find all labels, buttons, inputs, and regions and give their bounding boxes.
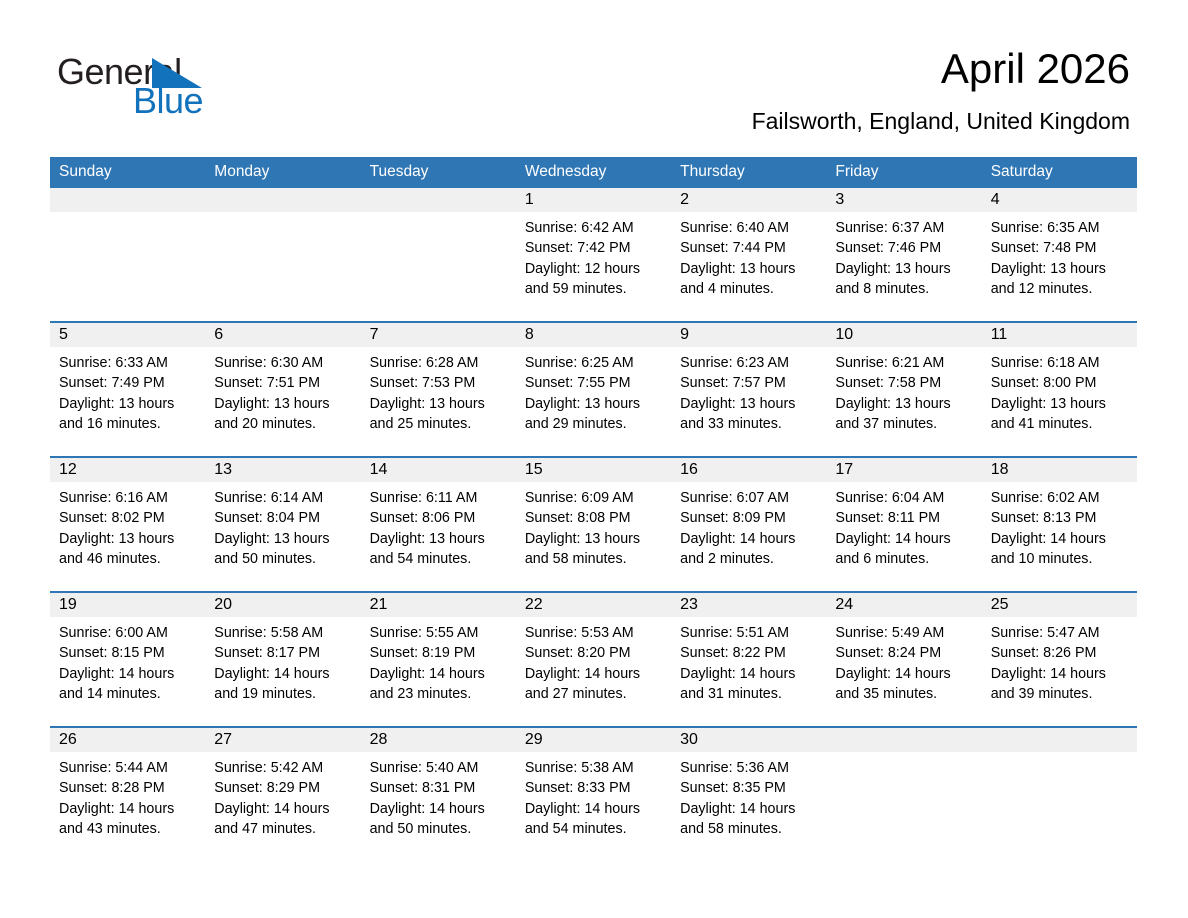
sunset-text: Sunset: 8:20 PM bbox=[525, 643, 662, 663]
sunset-text: Sunset: 8:31 PM bbox=[370, 778, 507, 798]
day-details: Sunrise: 6:28 AMSunset: 7:53 PMDaylight:… bbox=[361, 347, 516, 434]
calendar-cell-inner: 14Sunrise: 6:11 AMSunset: 8:06 PMDayligh… bbox=[361, 458, 516, 591]
calendar-cell-inner: 26Sunrise: 5:44 AMSunset: 8:28 PMDayligh… bbox=[50, 728, 205, 861]
daylight-text: Daylight: 12 hours bbox=[525, 259, 662, 279]
page-header: General Blue April 2026 Failsworth, Engl… bbox=[0, 0, 1188, 156]
day-number: 23 bbox=[671, 593, 826, 617]
day-details: Sunrise: 6:16 AMSunset: 8:02 PMDaylight:… bbox=[50, 482, 205, 569]
sunset-text: Sunset: 8:00 PM bbox=[991, 373, 1128, 393]
calendar-cell-day-14[interactable]: 14Sunrise: 6:11 AMSunset: 8:06 PMDayligh… bbox=[361, 457, 516, 592]
calendar-cell-day-26[interactable]: 26Sunrise: 5:44 AMSunset: 8:28 PMDayligh… bbox=[50, 727, 205, 861]
daylight-text: and 29 minutes. bbox=[525, 414, 662, 434]
day-details: Sunrise: 6:04 AMSunset: 8:11 PMDaylight:… bbox=[826, 482, 981, 569]
calendar-cell-inner: 15Sunrise: 6:09 AMSunset: 8:08 PMDayligh… bbox=[516, 458, 671, 591]
calendar-cell-empty bbox=[205, 188, 360, 322]
sunrise-text: Sunrise: 5:58 AM bbox=[214, 623, 351, 643]
calendar-cell-inner: 6Sunrise: 6:30 AMSunset: 7:51 PMDaylight… bbox=[205, 323, 360, 456]
sunrise-text: Sunrise: 6:23 AM bbox=[680, 353, 817, 373]
sunset-text: Sunset: 8:08 PM bbox=[525, 508, 662, 528]
calendar-cell-inner bbox=[50, 188, 205, 321]
day-number: 29 bbox=[516, 728, 671, 752]
day-number: 25 bbox=[982, 593, 1137, 617]
day-details: Sunrise: 6:40 AMSunset: 7:44 PMDaylight:… bbox=[671, 212, 826, 299]
daylight-text: and 43 minutes. bbox=[59, 819, 196, 839]
day-number: 21 bbox=[361, 593, 516, 617]
sunrise-text: Sunrise: 6:30 AM bbox=[214, 353, 351, 373]
daylight-text: Daylight: 14 hours bbox=[680, 529, 817, 549]
calendar-cell-empty bbox=[826, 727, 981, 861]
sunrise-text: Sunrise: 6:09 AM bbox=[525, 488, 662, 508]
daylight-text: and 35 minutes. bbox=[835, 684, 972, 704]
calendar-cell-inner: 28Sunrise: 5:40 AMSunset: 8:31 PMDayligh… bbox=[361, 728, 516, 861]
calendar-cell-inner: 5Sunrise: 6:33 AMSunset: 7:49 PMDaylight… bbox=[50, 323, 205, 456]
day-details: Sunrise: 6:07 AMSunset: 8:09 PMDaylight:… bbox=[671, 482, 826, 569]
sunrise-text: Sunrise: 6:35 AM bbox=[991, 218, 1128, 238]
day-details: Sunrise: 6:02 AMSunset: 8:13 PMDaylight:… bbox=[982, 482, 1137, 569]
daylight-text: and 19 minutes. bbox=[214, 684, 351, 704]
day-number-empty bbox=[205, 188, 360, 212]
calendar-cell-inner: 1Sunrise: 6:42 AMSunset: 7:42 PMDaylight… bbox=[516, 188, 671, 321]
page-title: April 2026 bbox=[752, 44, 1130, 94]
sunrise-text: Sunrise: 6:16 AM bbox=[59, 488, 196, 508]
day-details: Sunrise: 5:42 AMSunset: 8:29 PMDaylight:… bbox=[205, 752, 360, 839]
sunset-text: Sunset: 8:15 PM bbox=[59, 643, 196, 663]
calendar-week-row: 5Sunrise: 6:33 AMSunset: 7:49 PMDaylight… bbox=[50, 322, 1137, 457]
weekday-header-sunday: Sunday bbox=[50, 157, 205, 188]
calendar-cell-day-6[interactable]: 6Sunrise: 6:30 AMSunset: 7:51 PMDaylight… bbox=[205, 322, 360, 457]
weekday-header-wednesday: Wednesday bbox=[516, 157, 671, 188]
sunset-text: Sunset: 7:42 PM bbox=[525, 238, 662, 258]
calendar-cell-day-25[interactable]: 25Sunrise: 5:47 AMSunset: 8:26 PMDayligh… bbox=[982, 592, 1137, 727]
calendar-cell-day-23[interactable]: 23Sunrise: 5:51 AMSunset: 8:22 PMDayligh… bbox=[671, 592, 826, 727]
calendar-cell-empty bbox=[50, 188, 205, 322]
calendar-week-row: 12Sunrise: 6:16 AMSunset: 8:02 PMDayligh… bbox=[50, 457, 1137, 592]
calendar-table: Sunday Monday Tuesday Wednesday Thursday… bbox=[50, 157, 1137, 861]
daylight-text: and 25 minutes. bbox=[370, 414, 507, 434]
sunrise-text: Sunrise: 6:11 AM bbox=[370, 488, 507, 508]
day-number: 24 bbox=[826, 593, 981, 617]
calendar-cell-day-8[interactable]: 8Sunrise: 6:25 AMSunset: 7:55 PMDaylight… bbox=[516, 322, 671, 457]
sunrise-text: Sunrise: 5:47 AM bbox=[991, 623, 1128, 643]
day-details: Sunrise: 6:30 AMSunset: 7:51 PMDaylight:… bbox=[205, 347, 360, 434]
daylight-text: Daylight: 13 hours bbox=[680, 394, 817, 414]
calendar-cell-day-11[interactable]: 11Sunrise: 6:18 AMSunset: 8:00 PMDayligh… bbox=[982, 322, 1137, 457]
day-details: Sunrise: 6:00 AMSunset: 8:15 PMDaylight:… bbox=[50, 617, 205, 704]
calendar-cell-inner: 11Sunrise: 6:18 AMSunset: 8:00 PMDayligh… bbox=[982, 323, 1137, 456]
sunset-text: Sunset: 8:06 PM bbox=[370, 508, 507, 528]
day-details: Sunrise: 6:25 AMSunset: 7:55 PMDaylight:… bbox=[516, 347, 671, 434]
day-details: Sunrise: 6:33 AMSunset: 7:49 PMDaylight:… bbox=[50, 347, 205, 434]
daylight-text: and 50 minutes. bbox=[214, 549, 351, 569]
day-details: Sunrise: 5:44 AMSunset: 8:28 PMDaylight:… bbox=[50, 752, 205, 839]
day-number: 14 bbox=[361, 458, 516, 482]
daylight-text: Daylight: 13 hours bbox=[835, 259, 972, 279]
day-number-empty bbox=[826, 728, 981, 752]
sunrise-text: Sunrise: 5:40 AM bbox=[370, 758, 507, 778]
day-number-empty bbox=[361, 188, 516, 212]
calendar-week-row: 19Sunrise: 6:00 AMSunset: 8:15 PMDayligh… bbox=[50, 592, 1137, 727]
daylight-text: and 39 minutes. bbox=[991, 684, 1128, 704]
sunrise-text: Sunrise: 6:18 AM bbox=[991, 353, 1128, 373]
daylight-text: Daylight: 13 hours bbox=[59, 394, 196, 414]
day-number: 17 bbox=[826, 458, 981, 482]
calendar-cell-inner: 18Sunrise: 6:02 AMSunset: 8:13 PMDayligh… bbox=[982, 458, 1137, 591]
daylight-text: and 8 minutes. bbox=[835, 279, 972, 299]
daylight-text: Daylight: 13 hours bbox=[525, 394, 662, 414]
daylight-text: Daylight: 13 hours bbox=[680, 259, 817, 279]
day-number: 6 bbox=[205, 323, 360, 347]
day-number: 5 bbox=[50, 323, 205, 347]
calendar-cell-inner: 21Sunrise: 5:55 AMSunset: 8:19 PMDayligh… bbox=[361, 593, 516, 726]
sunset-text: Sunset: 8:04 PM bbox=[214, 508, 351, 528]
calendar-cell-inner: 30Sunrise: 5:36 AMSunset: 8:35 PMDayligh… bbox=[671, 728, 826, 861]
calendar-cell-day-2[interactable]: 2Sunrise: 6:40 AMSunset: 7:44 PMDaylight… bbox=[671, 188, 826, 322]
sunrise-text: Sunrise: 6:21 AM bbox=[835, 353, 972, 373]
sunset-text: Sunset: 7:46 PM bbox=[835, 238, 972, 258]
calendar-cell-day-9[interactable]: 9Sunrise: 6:23 AMSunset: 7:57 PMDaylight… bbox=[671, 322, 826, 457]
calendar-cell-day-1[interactable]: 1Sunrise: 6:42 AMSunset: 7:42 PMDaylight… bbox=[516, 188, 671, 322]
daylight-text: Daylight: 14 hours bbox=[525, 799, 662, 819]
daylight-text: Daylight: 13 hours bbox=[525, 529, 662, 549]
sunset-text: Sunset: 8:02 PM bbox=[59, 508, 196, 528]
daylight-text: Daylight: 13 hours bbox=[370, 529, 507, 549]
calendar-cell-inner: 7Sunrise: 6:28 AMSunset: 7:53 PMDaylight… bbox=[361, 323, 516, 456]
sunrise-text: Sunrise: 5:49 AM bbox=[835, 623, 972, 643]
day-details: Sunrise: 5:53 AMSunset: 8:20 PMDaylight:… bbox=[516, 617, 671, 704]
daylight-text: Daylight: 14 hours bbox=[835, 664, 972, 684]
daylight-text: and 23 minutes. bbox=[370, 684, 507, 704]
calendar-cell-empty bbox=[361, 188, 516, 322]
daylight-text: Daylight: 14 hours bbox=[525, 664, 662, 684]
calendar-cell-day-30[interactable]: 30Sunrise: 5:36 AMSunset: 8:35 PMDayligh… bbox=[671, 727, 826, 861]
day-number: 18 bbox=[982, 458, 1137, 482]
sunrise-text: Sunrise: 6:07 AM bbox=[680, 488, 817, 508]
daylight-text: and 37 minutes. bbox=[835, 414, 972, 434]
sunset-text: Sunset: 8:28 PM bbox=[59, 778, 196, 798]
day-details: Sunrise: 5:49 AMSunset: 8:24 PMDaylight:… bbox=[826, 617, 981, 704]
daylight-text: and 20 minutes. bbox=[214, 414, 351, 434]
day-details: Sunrise: 5:38 AMSunset: 8:33 PMDaylight:… bbox=[516, 752, 671, 839]
day-details bbox=[205, 212, 360, 218]
calendar-cell-inner: 29Sunrise: 5:38 AMSunset: 8:33 PMDayligh… bbox=[516, 728, 671, 861]
day-number: 3 bbox=[826, 188, 981, 212]
calendar-body: 1Sunrise: 6:42 AMSunset: 7:42 PMDaylight… bbox=[50, 188, 1137, 861]
daylight-text: Daylight: 14 hours bbox=[214, 799, 351, 819]
calendar-cell-day-7[interactable]: 7Sunrise: 6:28 AMSunset: 7:53 PMDaylight… bbox=[361, 322, 516, 457]
calendar-cell-inner: 24Sunrise: 5:49 AMSunset: 8:24 PMDayligh… bbox=[826, 593, 981, 726]
sunset-text: Sunset: 7:44 PM bbox=[680, 238, 817, 258]
calendar-cell-day-16[interactable]: 16Sunrise: 6:07 AMSunset: 8:09 PMDayligh… bbox=[671, 457, 826, 592]
day-details: Sunrise: 6:21 AMSunset: 7:58 PMDaylight:… bbox=[826, 347, 981, 434]
sunrise-text: Sunrise: 5:51 AM bbox=[680, 623, 817, 643]
daylight-text: Daylight: 13 hours bbox=[59, 529, 196, 549]
calendar-cell-inner: 2Sunrise: 6:40 AMSunset: 7:44 PMDaylight… bbox=[671, 188, 826, 321]
daylight-text: Daylight: 14 hours bbox=[991, 529, 1128, 549]
sunset-text: Sunset: 8:29 PM bbox=[214, 778, 351, 798]
day-details: Sunrise: 5:58 AMSunset: 8:17 PMDaylight:… bbox=[205, 617, 360, 704]
calendar-cell-inner bbox=[982, 728, 1137, 861]
daylight-text: Daylight: 13 hours bbox=[991, 394, 1128, 414]
calendar-cell-inner: 9Sunrise: 6:23 AMSunset: 7:57 PMDaylight… bbox=[671, 323, 826, 456]
sunset-text: Sunset: 7:53 PM bbox=[370, 373, 507, 393]
day-details: Sunrise: 6:09 AMSunset: 8:08 PMDaylight:… bbox=[516, 482, 671, 569]
day-number: 19 bbox=[50, 593, 205, 617]
weekday-header-thursday: Thursday bbox=[671, 157, 826, 188]
day-number: 9 bbox=[671, 323, 826, 347]
day-details: Sunrise: 6:11 AMSunset: 8:06 PMDaylight:… bbox=[361, 482, 516, 569]
daylight-text: and 10 minutes. bbox=[991, 549, 1128, 569]
day-number: 11 bbox=[982, 323, 1137, 347]
daylight-text: Daylight: 13 hours bbox=[370, 394, 507, 414]
calendar-week-row: 1Sunrise: 6:42 AMSunset: 7:42 PMDaylight… bbox=[50, 188, 1137, 322]
daylight-text: Daylight: 14 hours bbox=[370, 799, 507, 819]
calendar-cell-day-27[interactable]: 27Sunrise: 5:42 AMSunset: 8:29 PMDayligh… bbox=[205, 727, 360, 861]
daylight-text: and 54 minutes. bbox=[525, 819, 662, 839]
sunrise-text: Sunrise: 6:40 AM bbox=[680, 218, 817, 238]
day-details: Sunrise: 5:55 AMSunset: 8:19 PMDaylight:… bbox=[361, 617, 516, 704]
sunrise-text: Sunrise: 5:53 AM bbox=[525, 623, 662, 643]
weekday-header-tuesday: Tuesday bbox=[361, 157, 516, 188]
calendar-cell-day-17[interactable]: 17Sunrise: 6:04 AMSunset: 8:11 PMDayligh… bbox=[826, 457, 981, 592]
page-subtitle: Failsworth, England, United Kingdom bbox=[752, 106, 1130, 136]
day-details bbox=[50, 212, 205, 218]
day-number: 16 bbox=[671, 458, 826, 482]
daylight-text: Daylight: 14 hours bbox=[680, 664, 817, 684]
calendar-cell-inner bbox=[826, 728, 981, 861]
calendar-cell-inner: 23Sunrise: 5:51 AMSunset: 8:22 PMDayligh… bbox=[671, 593, 826, 726]
calendar-cell-day-24[interactable]: 24Sunrise: 5:49 AMSunset: 8:24 PMDayligh… bbox=[826, 592, 981, 727]
day-number: 7 bbox=[361, 323, 516, 347]
calendar-cell-day-3[interactable]: 3Sunrise: 6:37 AMSunset: 7:46 PMDaylight… bbox=[826, 188, 981, 322]
daylight-text: Daylight: 14 hours bbox=[59, 664, 196, 684]
calendar-cell-inner: 3Sunrise: 6:37 AMSunset: 7:46 PMDaylight… bbox=[826, 188, 981, 321]
calendar-header-row: Sunday Monday Tuesday Wednesday Thursday… bbox=[50, 157, 1137, 188]
daylight-text: and 50 minutes. bbox=[370, 819, 507, 839]
daylight-text: Daylight: 14 hours bbox=[370, 664, 507, 684]
daylight-text: and 59 minutes. bbox=[525, 279, 662, 299]
sunset-text: Sunset: 8:19 PM bbox=[370, 643, 507, 663]
calendar-cell-day-19[interactable]: 19Sunrise: 6:00 AMSunset: 8:15 PMDayligh… bbox=[50, 592, 205, 727]
sunrise-text: Sunrise: 6:00 AM bbox=[59, 623, 196, 643]
sunset-text: Sunset: 8:26 PM bbox=[991, 643, 1128, 663]
calendar-cell-inner: 12Sunrise: 6:16 AMSunset: 8:02 PMDayligh… bbox=[50, 458, 205, 591]
day-details: Sunrise: 5:51 AMSunset: 8:22 PMDaylight:… bbox=[671, 617, 826, 704]
sunrise-text: Sunrise: 5:44 AM bbox=[59, 758, 196, 778]
calendar-cell-inner: 25Sunrise: 5:47 AMSunset: 8:26 PMDayligh… bbox=[982, 593, 1137, 726]
sunset-text: Sunset: 8:09 PM bbox=[680, 508, 817, 528]
calendar-cell-day-15[interactable]: 15Sunrise: 6:09 AMSunset: 8:08 PMDayligh… bbox=[516, 457, 671, 592]
weekday-header-friday: Friday bbox=[826, 157, 981, 188]
sunset-text: Sunset: 8:33 PM bbox=[525, 778, 662, 798]
daylight-text: and 33 minutes. bbox=[680, 414, 817, 434]
calendar-week-row: 26Sunrise: 5:44 AMSunset: 8:28 PMDayligh… bbox=[50, 727, 1137, 861]
sunrise-text: Sunrise: 6:25 AM bbox=[525, 353, 662, 373]
calendar-cell-day-12[interactable]: 12Sunrise: 6:16 AMSunset: 8:02 PMDayligh… bbox=[50, 457, 205, 592]
sunrise-text: Sunrise: 6:33 AM bbox=[59, 353, 196, 373]
day-details bbox=[982, 752, 1137, 758]
day-number: 12 bbox=[50, 458, 205, 482]
calendar-cell-inner: 13Sunrise: 6:14 AMSunset: 8:04 PMDayligh… bbox=[205, 458, 360, 591]
calendar-cell-inner bbox=[361, 188, 516, 321]
day-number: 15 bbox=[516, 458, 671, 482]
day-details: Sunrise: 5:36 AMSunset: 8:35 PMDaylight:… bbox=[671, 752, 826, 839]
title-block: April 2026 Failsworth, England, United K… bbox=[752, 44, 1130, 136]
daylight-text: and 47 minutes. bbox=[214, 819, 351, 839]
calendar-cell-inner: 22Sunrise: 5:53 AMSunset: 8:20 PMDayligh… bbox=[516, 593, 671, 726]
calendar-cell-inner: 4Sunrise: 6:35 AMSunset: 7:48 PMDaylight… bbox=[982, 188, 1137, 321]
day-details: Sunrise: 6:35 AMSunset: 7:48 PMDaylight:… bbox=[982, 212, 1137, 299]
sunset-text: Sunset: 7:49 PM bbox=[59, 373, 196, 393]
weekday-header-saturday: Saturday bbox=[982, 157, 1137, 188]
calendar-cell-inner: 20Sunrise: 5:58 AMSunset: 8:17 PMDayligh… bbox=[205, 593, 360, 726]
calendar-cell-day-21[interactable]: 21Sunrise: 5:55 AMSunset: 8:19 PMDayligh… bbox=[361, 592, 516, 727]
daylight-text: and 31 minutes. bbox=[680, 684, 817, 704]
day-number: 13 bbox=[205, 458, 360, 482]
daylight-text: Daylight: 13 hours bbox=[991, 259, 1128, 279]
sunset-text: Sunset: 8:11 PM bbox=[835, 508, 972, 528]
day-number: 4 bbox=[982, 188, 1137, 212]
daylight-text: Daylight: 13 hours bbox=[214, 394, 351, 414]
sunrise-text: Sunrise: 5:42 AM bbox=[214, 758, 351, 778]
sunset-text: Sunset: 8:13 PM bbox=[991, 508, 1128, 528]
sunset-text: Sunset: 7:58 PM bbox=[835, 373, 972, 393]
calendar-cell-day-20[interactable]: 20Sunrise: 5:58 AMSunset: 8:17 PMDayligh… bbox=[205, 592, 360, 727]
day-details: Sunrise: 6:14 AMSunset: 8:04 PMDaylight:… bbox=[205, 482, 360, 569]
daylight-text: and 41 minutes. bbox=[991, 414, 1128, 434]
calendar-cell-day-5[interactable]: 5Sunrise: 6:33 AMSunset: 7:49 PMDaylight… bbox=[50, 322, 205, 457]
daylight-text: Daylight: 14 hours bbox=[991, 664, 1128, 684]
sunset-text: Sunset: 8:22 PM bbox=[680, 643, 817, 663]
calendar-cell-day-29[interactable]: 29Sunrise: 5:38 AMSunset: 8:33 PMDayligh… bbox=[516, 727, 671, 861]
daylight-text: Daylight: 14 hours bbox=[214, 664, 351, 684]
calendar-cell-day-22[interactable]: 22Sunrise: 5:53 AMSunset: 8:20 PMDayligh… bbox=[516, 592, 671, 727]
daylight-text: and 58 minutes. bbox=[525, 549, 662, 569]
general-blue-logo[interactable]: General Blue bbox=[57, 52, 317, 122]
sunset-text: Sunset: 8:35 PM bbox=[680, 778, 817, 798]
daylight-text: and 4 minutes. bbox=[680, 279, 817, 299]
day-number-empty bbox=[50, 188, 205, 212]
day-details: Sunrise: 6:18 AMSunset: 8:00 PMDaylight:… bbox=[982, 347, 1137, 434]
day-number: 22 bbox=[516, 593, 671, 617]
calendar-cell-inner: 27Sunrise: 5:42 AMSunset: 8:29 PMDayligh… bbox=[205, 728, 360, 861]
calendar-cell-day-28[interactable]: 28Sunrise: 5:40 AMSunset: 8:31 PMDayligh… bbox=[361, 727, 516, 861]
daylight-text: Daylight: 13 hours bbox=[214, 529, 351, 549]
sunrise-text: Sunrise: 6:04 AM bbox=[835, 488, 972, 508]
daylight-text: Daylight: 14 hours bbox=[680, 799, 817, 819]
calendar-cell-day-18[interactable]: 18Sunrise: 6:02 AMSunset: 8:13 PMDayligh… bbox=[982, 457, 1137, 592]
calendar-cell-day-10[interactable]: 10Sunrise: 6:21 AMSunset: 7:58 PMDayligh… bbox=[826, 322, 981, 457]
day-details: Sunrise: 6:42 AMSunset: 7:42 PMDaylight:… bbox=[516, 212, 671, 299]
day-number-empty bbox=[982, 728, 1137, 752]
calendar-cell-day-13[interactable]: 13Sunrise: 6:14 AMSunset: 8:04 PMDayligh… bbox=[205, 457, 360, 592]
day-number: 20 bbox=[205, 593, 360, 617]
sunset-text: Sunset: 8:24 PM bbox=[835, 643, 972, 663]
logo-text-blue: Blue bbox=[133, 81, 203, 121]
daylight-text: and 54 minutes. bbox=[370, 549, 507, 569]
sunset-text: Sunset: 7:48 PM bbox=[991, 238, 1128, 258]
calendar-page: General Blue April 2026 Failsworth, Engl… bbox=[0, 0, 1188, 918]
calendar-cell-inner: 17Sunrise: 6:04 AMSunset: 8:11 PMDayligh… bbox=[826, 458, 981, 591]
calendar-cell-inner: 10Sunrise: 6:21 AMSunset: 7:58 PMDayligh… bbox=[826, 323, 981, 456]
daylight-text: and 46 minutes. bbox=[59, 549, 196, 569]
sunrise-text: Sunrise: 6:14 AM bbox=[214, 488, 351, 508]
calendar-cell-inner: 8Sunrise: 6:25 AMSunset: 7:55 PMDaylight… bbox=[516, 323, 671, 456]
calendar-cell-inner: 19Sunrise: 6:00 AMSunset: 8:15 PMDayligh… bbox=[50, 593, 205, 726]
sunrise-text: Sunrise: 6:28 AM bbox=[370, 353, 507, 373]
daylight-text: and 16 minutes. bbox=[59, 414, 196, 434]
sunset-text: Sunset: 7:51 PM bbox=[214, 373, 351, 393]
sunset-text: Sunset: 7:55 PM bbox=[525, 373, 662, 393]
daylight-text: and 58 minutes. bbox=[680, 819, 817, 839]
day-number: 27 bbox=[205, 728, 360, 752]
daylight-text: Daylight: 13 hours bbox=[835, 394, 972, 414]
day-details bbox=[826, 752, 981, 758]
day-details: Sunrise: 6:23 AMSunset: 7:57 PMDaylight:… bbox=[671, 347, 826, 434]
day-details: Sunrise: 6:37 AMSunset: 7:46 PMDaylight:… bbox=[826, 212, 981, 299]
daylight-text: Daylight: 14 hours bbox=[835, 529, 972, 549]
sunrise-text: Sunrise: 5:38 AM bbox=[525, 758, 662, 778]
sunrise-text: Sunrise: 5:55 AM bbox=[370, 623, 507, 643]
daylight-text: and 2 minutes. bbox=[680, 549, 817, 569]
daylight-text: and 12 minutes. bbox=[991, 279, 1128, 299]
day-details: Sunrise: 5:40 AMSunset: 8:31 PMDaylight:… bbox=[361, 752, 516, 839]
sunrise-text: Sunrise: 6:42 AM bbox=[525, 218, 662, 238]
day-details: Sunrise: 5:47 AMSunset: 8:26 PMDaylight:… bbox=[982, 617, 1137, 704]
daylight-text: and 14 minutes. bbox=[59, 684, 196, 704]
sunset-text: Sunset: 8:17 PM bbox=[214, 643, 351, 663]
day-number: 10 bbox=[826, 323, 981, 347]
day-number: 30 bbox=[671, 728, 826, 752]
day-number: 28 bbox=[361, 728, 516, 752]
calendar-cell-day-4[interactable]: 4Sunrise: 6:35 AMSunset: 7:48 PMDaylight… bbox=[982, 188, 1137, 322]
sunrise-text: Sunrise: 6:37 AM bbox=[835, 218, 972, 238]
day-number: 26 bbox=[50, 728, 205, 752]
calendar-cell-empty bbox=[982, 727, 1137, 861]
calendar-cell-inner bbox=[205, 188, 360, 321]
day-details bbox=[361, 212, 516, 218]
daylight-text: and 27 minutes. bbox=[525, 684, 662, 704]
daylight-text: Daylight: 14 hours bbox=[59, 799, 196, 819]
day-number: 2 bbox=[671, 188, 826, 212]
sunrise-text: Sunrise: 5:36 AM bbox=[680, 758, 817, 778]
sunrise-text: Sunrise: 6:02 AM bbox=[991, 488, 1128, 508]
sunset-text: Sunset: 7:57 PM bbox=[680, 373, 817, 393]
daylight-text: and 6 minutes. bbox=[835, 549, 972, 569]
day-number: 8 bbox=[516, 323, 671, 347]
calendar-cell-inner: 16Sunrise: 6:07 AMSunset: 8:09 PMDayligh… bbox=[671, 458, 826, 591]
weekday-header-monday: Monday bbox=[205, 157, 360, 188]
day-number: 1 bbox=[516, 188, 671, 212]
